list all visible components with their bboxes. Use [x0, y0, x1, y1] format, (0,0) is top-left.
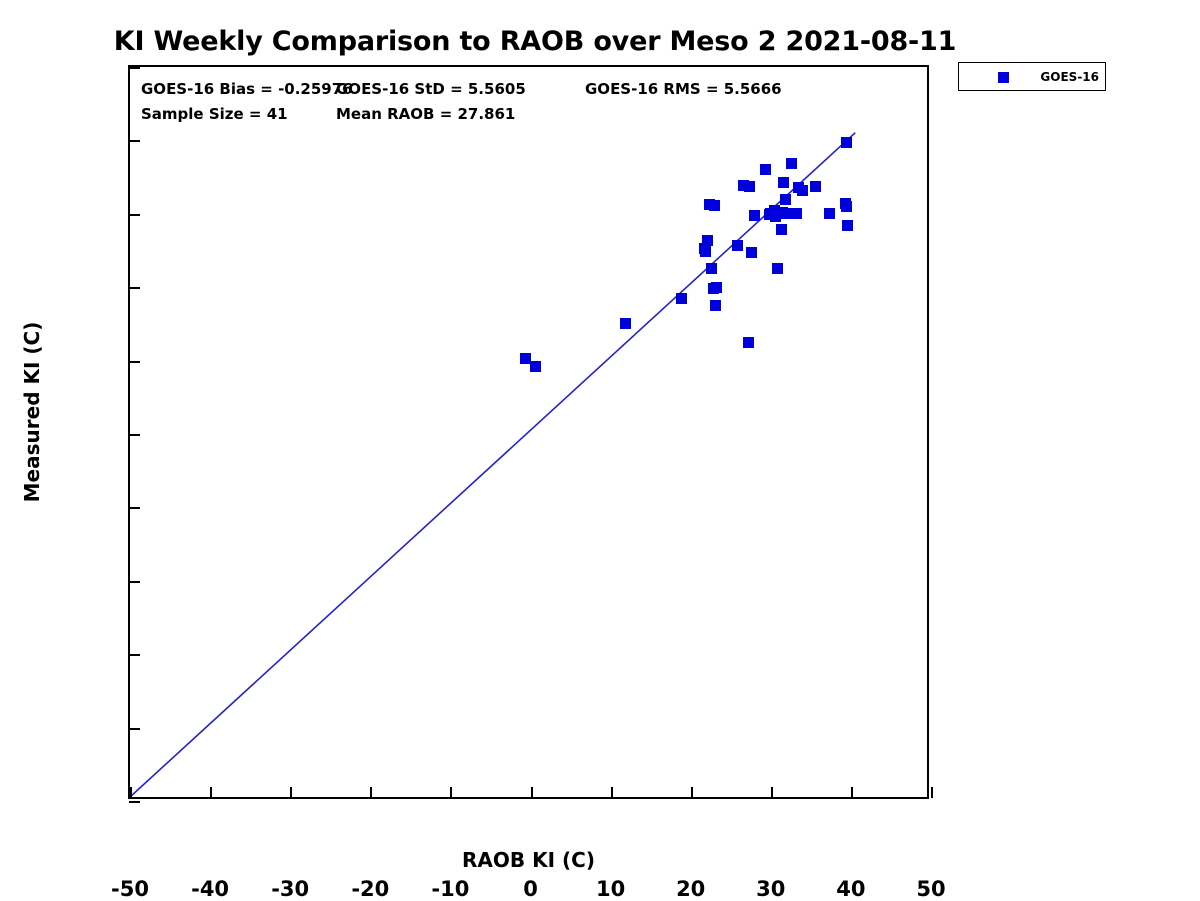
scatter-point [760, 164, 771, 175]
y-axis-label: Measured KI (C) [20, 262, 44, 562]
scatter-point [700, 246, 711, 257]
x-tick-label: 50 [891, 877, 971, 901]
scatter-point [776, 224, 787, 235]
plot-canvas [130, 67, 927, 797]
scatter-point [797, 185, 808, 196]
x-tick-label: -50 [90, 877, 170, 901]
x-tick-mark [130, 787, 132, 798]
y-tick-mark [129, 214, 140, 216]
x-tick-mark [851, 787, 853, 798]
scatter-point [841, 137, 852, 148]
x-tick-label: -10 [410, 877, 490, 901]
scatter-point [702, 235, 713, 246]
x-tick-label: 10 [571, 877, 651, 901]
y-tick-mark [129, 801, 140, 803]
x-tick-label: -20 [330, 877, 410, 901]
y-tick-mark [129, 361, 140, 363]
x-tick-mark [210, 787, 212, 798]
x-tick-mark [290, 787, 292, 798]
x-tick-label: -40 [170, 877, 250, 901]
scatter-point [711, 282, 722, 293]
x-tick-label: -30 [250, 877, 330, 901]
stat-rms: GOES-16 RMS = 5.5666 [585, 80, 782, 98]
scatter-point [744, 181, 755, 192]
scatter-point [620, 318, 631, 329]
x-tick-label: 40 [811, 877, 891, 901]
x-tick-mark [531, 787, 533, 798]
y-tick-mark [129, 67, 140, 69]
x-tick-mark [611, 787, 613, 798]
stat-std: GOES-16 StD = 5.5605 [336, 80, 526, 98]
scatter-point [791, 208, 802, 219]
scatter-point [530, 361, 541, 372]
page-title: KI Weekly Comparison to RAOB over Meso 2… [0, 26, 1070, 57]
scatter-point [746, 247, 757, 258]
x-tick-mark [370, 787, 372, 798]
y-tick-mark [129, 434, 140, 436]
y-tick-mark [129, 140, 140, 142]
scatter-point [841, 201, 852, 212]
scatter-point [732, 240, 743, 251]
x-tick-label: 20 [651, 877, 731, 901]
stat-sample_size: Sample Size = 41 [141, 105, 288, 123]
scatter-point [780, 194, 791, 205]
y-tick-mark [129, 581, 140, 583]
scatter-point [743, 337, 754, 348]
scatter-point [810, 181, 821, 192]
x-tick-mark [931, 787, 933, 798]
x-axis-label: RAOB KI (C) [128, 848, 929, 872]
y-tick-mark [129, 507, 140, 509]
scatter-point [749, 210, 760, 221]
scatter-point [824, 208, 835, 219]
scatter-point [706, 263, 717, 274]
chart-figure: KI Weekly Comparison to RAOB over Meso 2… [0, 0, 1200, 900]
legend-label: GOES-16 [959, 70, 1099, 84]
x-tick-label: 30 [731, 877, 811, 901]
plot-area: -50-40-30-20-1001020304050 -50-40-30-20-… [128, 65, 929, 799]
scatter-point [842, 220, 853, 231]
scatter-point [786, 158, 797, 169]
x-tick-mark [450, 787, 452, 798]
x-tick-mark [771, 787, 773, 798]
y-tick-mark [129, 287, 140, 289]
legend: GOES-16 [958, 62, 1106, 91]
scatter-point [772, 263, 783, 274]
y-tick-mark [129, 654, 140, 656]
stat-bias: GOES-16 Bias = -0.25976 [141, 80, 353, 98]
stat-mean_raob: Mean RAOB = 27.861 [336, 105, 515, 123]
scatter-point [778, 177, 789, 188]
scatter-point [676, 293, 687, 304]
x-tick-label: 0 [491, 877, 571, 901]
scatter-point [709, 200, 720, 211]
one-to-one-line [130, 67, 927, 797]
scatter-point [710, 300, 721, 311]
x-tick-mark [691, 787, 693, 798]
y-tick-mark [129, 728, 140, 730]
